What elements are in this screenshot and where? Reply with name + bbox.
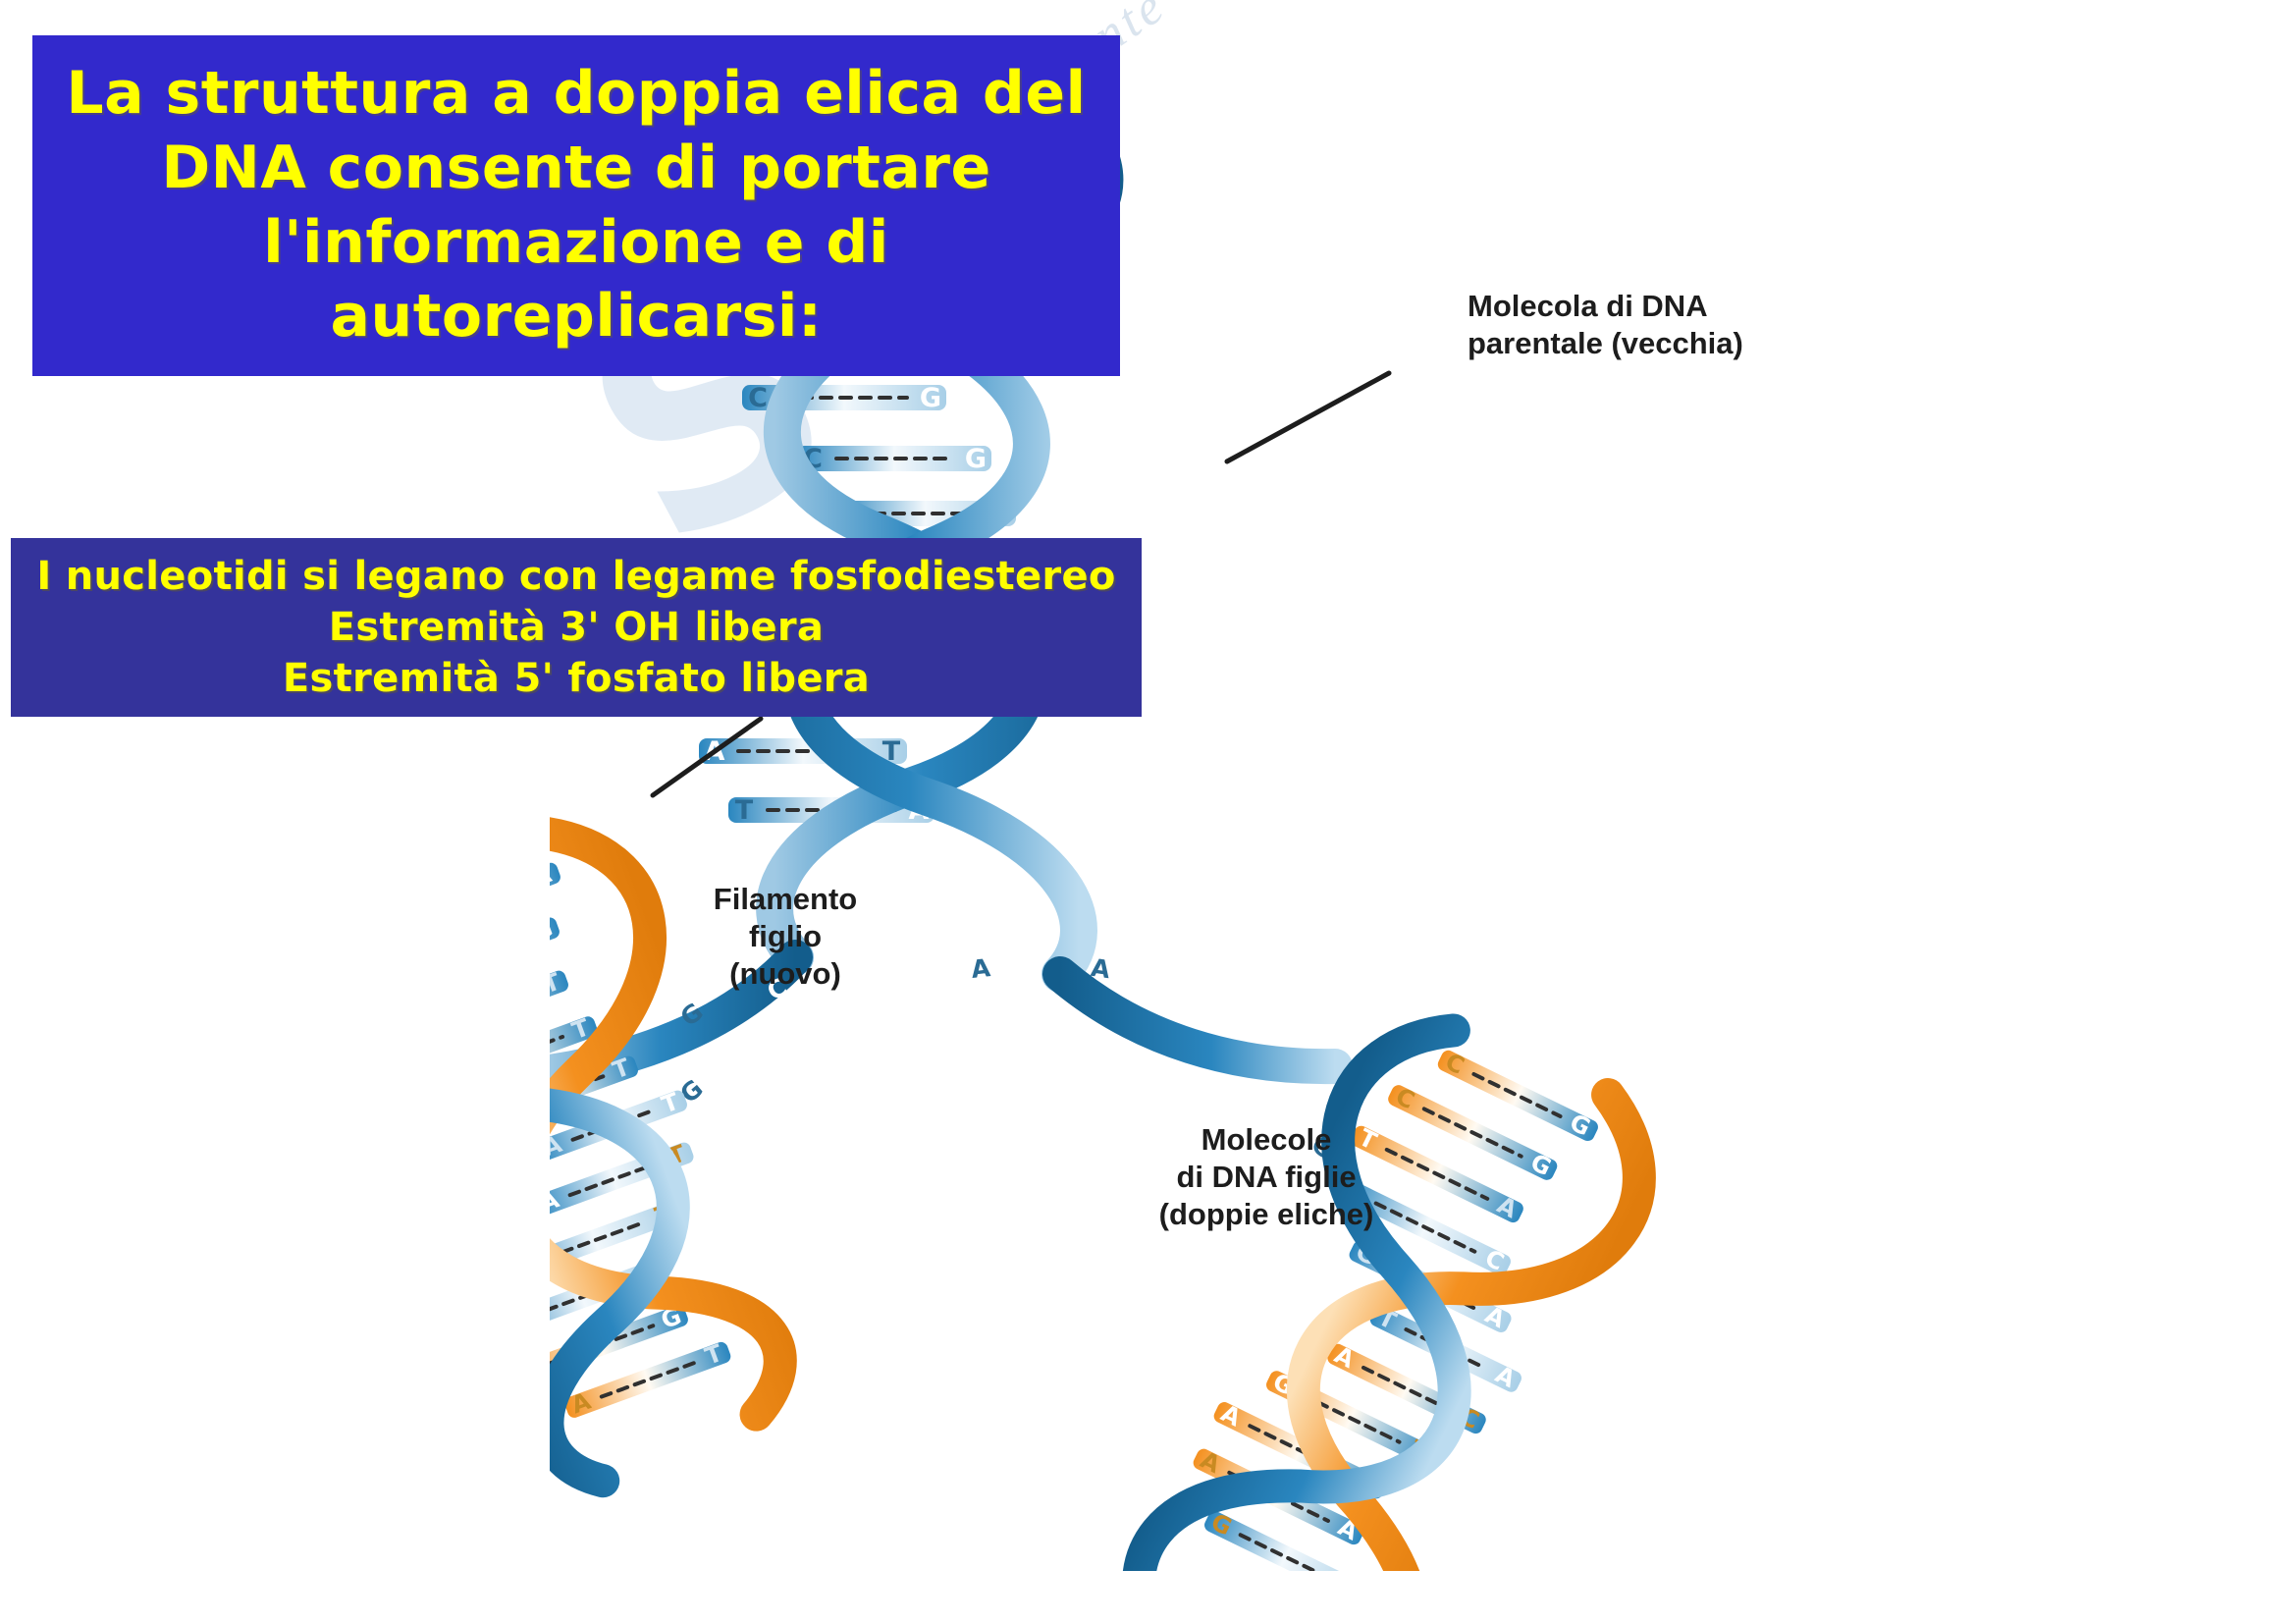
svg-text:A: A xyxy=(970,953,992,984)
callout-daughter-line-3: (doppie eliche) xyxy=(1139,1196,1394,1233)
leader-parent xyxy=(1227,373,1389,461)
callout-daughter-molecules: Molecole di DNA figlie (doppie eliche) xyxy=(1139,1121,1394,1232)
callout-parent-line-1: Molecola di DNA xyxy=(1468,288,1743,325)
svg-text:G: G xyxy=(965,444,987,474)
callout-parent-line-2: parentale (vecchia) xyxy=(1468,325,1743,362)
title-text: La struttura a doppia elica del DNA cons… xyxy=(66,57,1086,353)
title-line-3: l'informazione e di xyxy=(263,208,889,277)
note-line-1: I nucleotidi si legano con legame fosfod… xyxy=(36,554,1115,599)
title-line-2: DNA consente di portare xyxy=(161,134,990,202)
svg-text:C: C xyxy=(748,383,768,413)
slide-canvas: S il paradiso dello studente xyxy=(0,0,2296,1623)
callout-child-line-2: figlio xyxy=(672,918,898,955)
title-text-box: La struttura a doppia elica del DNA cons… xyxy=(32,35,1120,376)
svg-text:G: G xyxy=(1194,969,1222,1002)
right-daughter-helix: CG CG TA AC GA TA AC GT AT AA GC AT xyxy=(1095,993,1675,1571)
callout-parent-molecule: Molecola di DNA parentale (vecchia) xyxy=(1468,288,1743,362)
callout-daughter-strand: Filamento figlio (nuovo) xyxy=(672,881,898,992)
callout-child-line-1: Filamento xyxy=(672,881,898,918)
svg-text:A: A xyxy=(1090,953,1113,985)
title-line-1: La struttura a doppia elica del xyxy=(66,59,1086,128)
callout-daughter-line-2: di DNA figlie xyxy=(1139,1159,1394,1196)
callout-daughter-line-1: Molecole xyxy=(1139,1121,1394,1159)
svg-text:C: C xyxy=(1277,994,1308,1027)
note-text-box: I nucleotidi si legano con legame fosfod… xyxy=(11,538,1142,717)
note-text: I nucleotidi si legano con legame fosfod… xyxy=(36,551,1115,704)
title-line-4: autoreplicarsi: xyxy=(331,282,823,351)
note-line-3: Estremità 5' fosfato libera xyxy=(283,656,870,701)
svg-text:T: T xyxy=(735,795,754,826)
callout-child-line-3: (nuovo) xyxy=(672,955,898,993)
note-line-2: Estremità 3' OH libera xyxy=(329,605,824,650)
svg-text:G: G xyxy=(920,383,941,413)
